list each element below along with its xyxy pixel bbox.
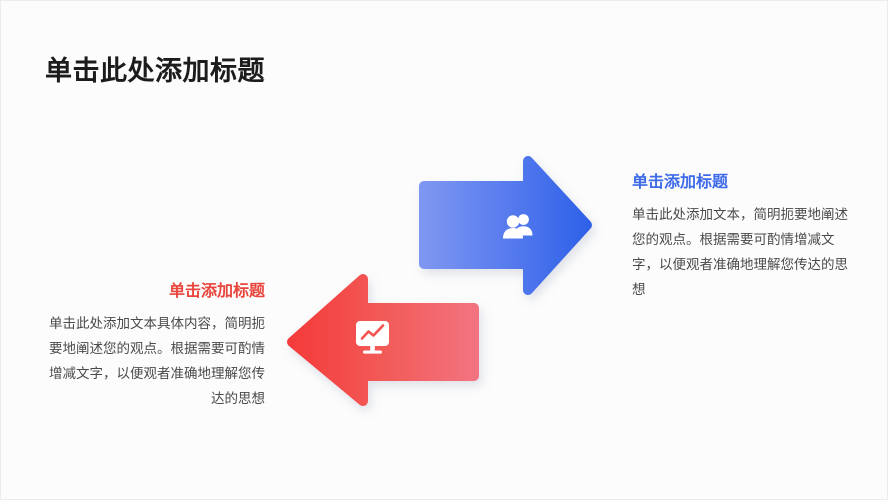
right-text-block: 单击添加标题 单击此处添加文本，简明扼要地阐述您的观点。根据需要可酌情增减文字，… <box>632 173 854 303</box>
left-block-body: 单击此处添加文本具体内容，简明扼要地阐述您的观点。根据需要可酌情增减文字，以便观… <box>37 312 265 412</box>
left-block-heading: 单击添加标题 <box>37 282 265 303</box>
left-text-block: 单击添加标题 单击此处添加文本具体内容，简明扼要地阐述您的观点。根据需要可酌情增… <box>37 282 265 412</box>
right-block-body: 单击此处添加文本，简明扼要地阐述您的观点。根据需要可酌情增减文字，以便观者准确地… <box>632 203 854 303</box>
blue-arrow-shape <box>424 161 587 290</box>
slide-canvas: 单击此处添加标题 <box>0 0 888 500</box>
blue-arrow[interactable] <box>424 161 587 290</box>
right-block-heading: 单击添加标题 <box>632 173 854 194</box>
